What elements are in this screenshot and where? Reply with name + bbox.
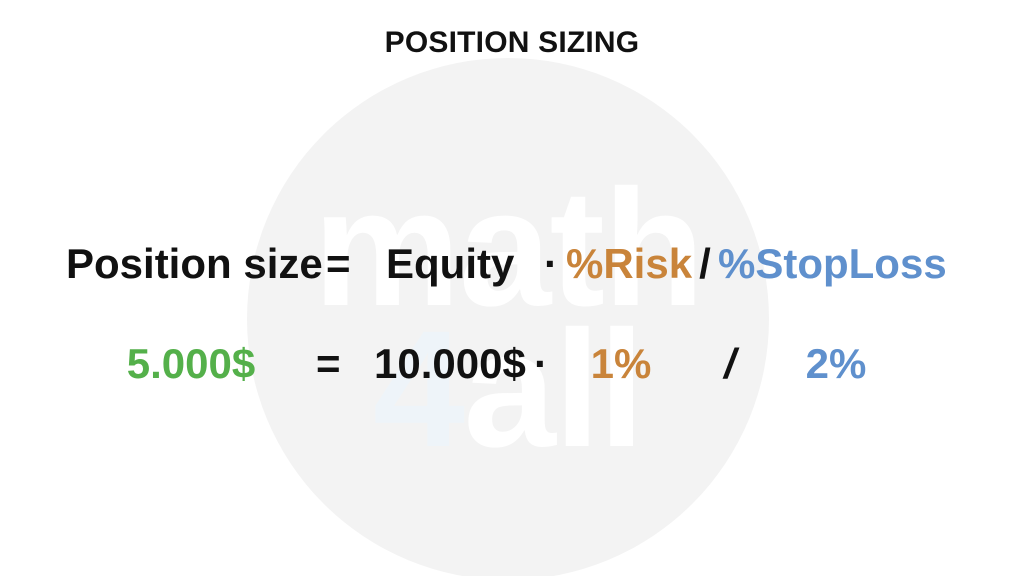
formula-symbolic-row: Position size = Equity · %Risk / %StopLo…: [0, 240, 1024, 288]
slide-content: POSITION SIZING Position size = Equity ·…: [0, 0, 1024, 576]
formula-multiply-numeric: ·: [524, 340, 558, 388]
formula-term-risk: %Risk: [566, 240, 692, 288]
slide-canvas: math 4all POSITION SIZING Position size …: [0, 0, 1024, 576]
formula-value-risk: 1%: [558, 340, 684, 388]
page-title: POSITION SIZING: [0, 26, 1024, 60]
formula-value-position-size: 5.000$: [66, 340, 316, 388]
formula-divide-symbolic: /: [692, 240, 718, 288]
formula-value-stoploss: 2%: [776, 340, 896, 388]
formula-term-equity: Equity: [386, 240, 536, 288]
formula-label-position-size: Position size: [66, 240, 326, 288]
formula-term-stoploss: %StopLoss: [718, 240, 938, 288]
formula-multiply-symbolic: ·: [536, 240, 566, 288]
formula-value-equity: 10.000$: [374, 340, 524, 388]
formula-numeric-row: 5.000$ = 10.000$ · 1% / 2%: [0, 340, 1024, 388]
formula-divide-numeric: /: [684, 340, 776, 388]
formula-equals-numeric: =: [316, 340, 374, 388]
formula-equals-symbolic: =: [326, 240, 386, 288]
